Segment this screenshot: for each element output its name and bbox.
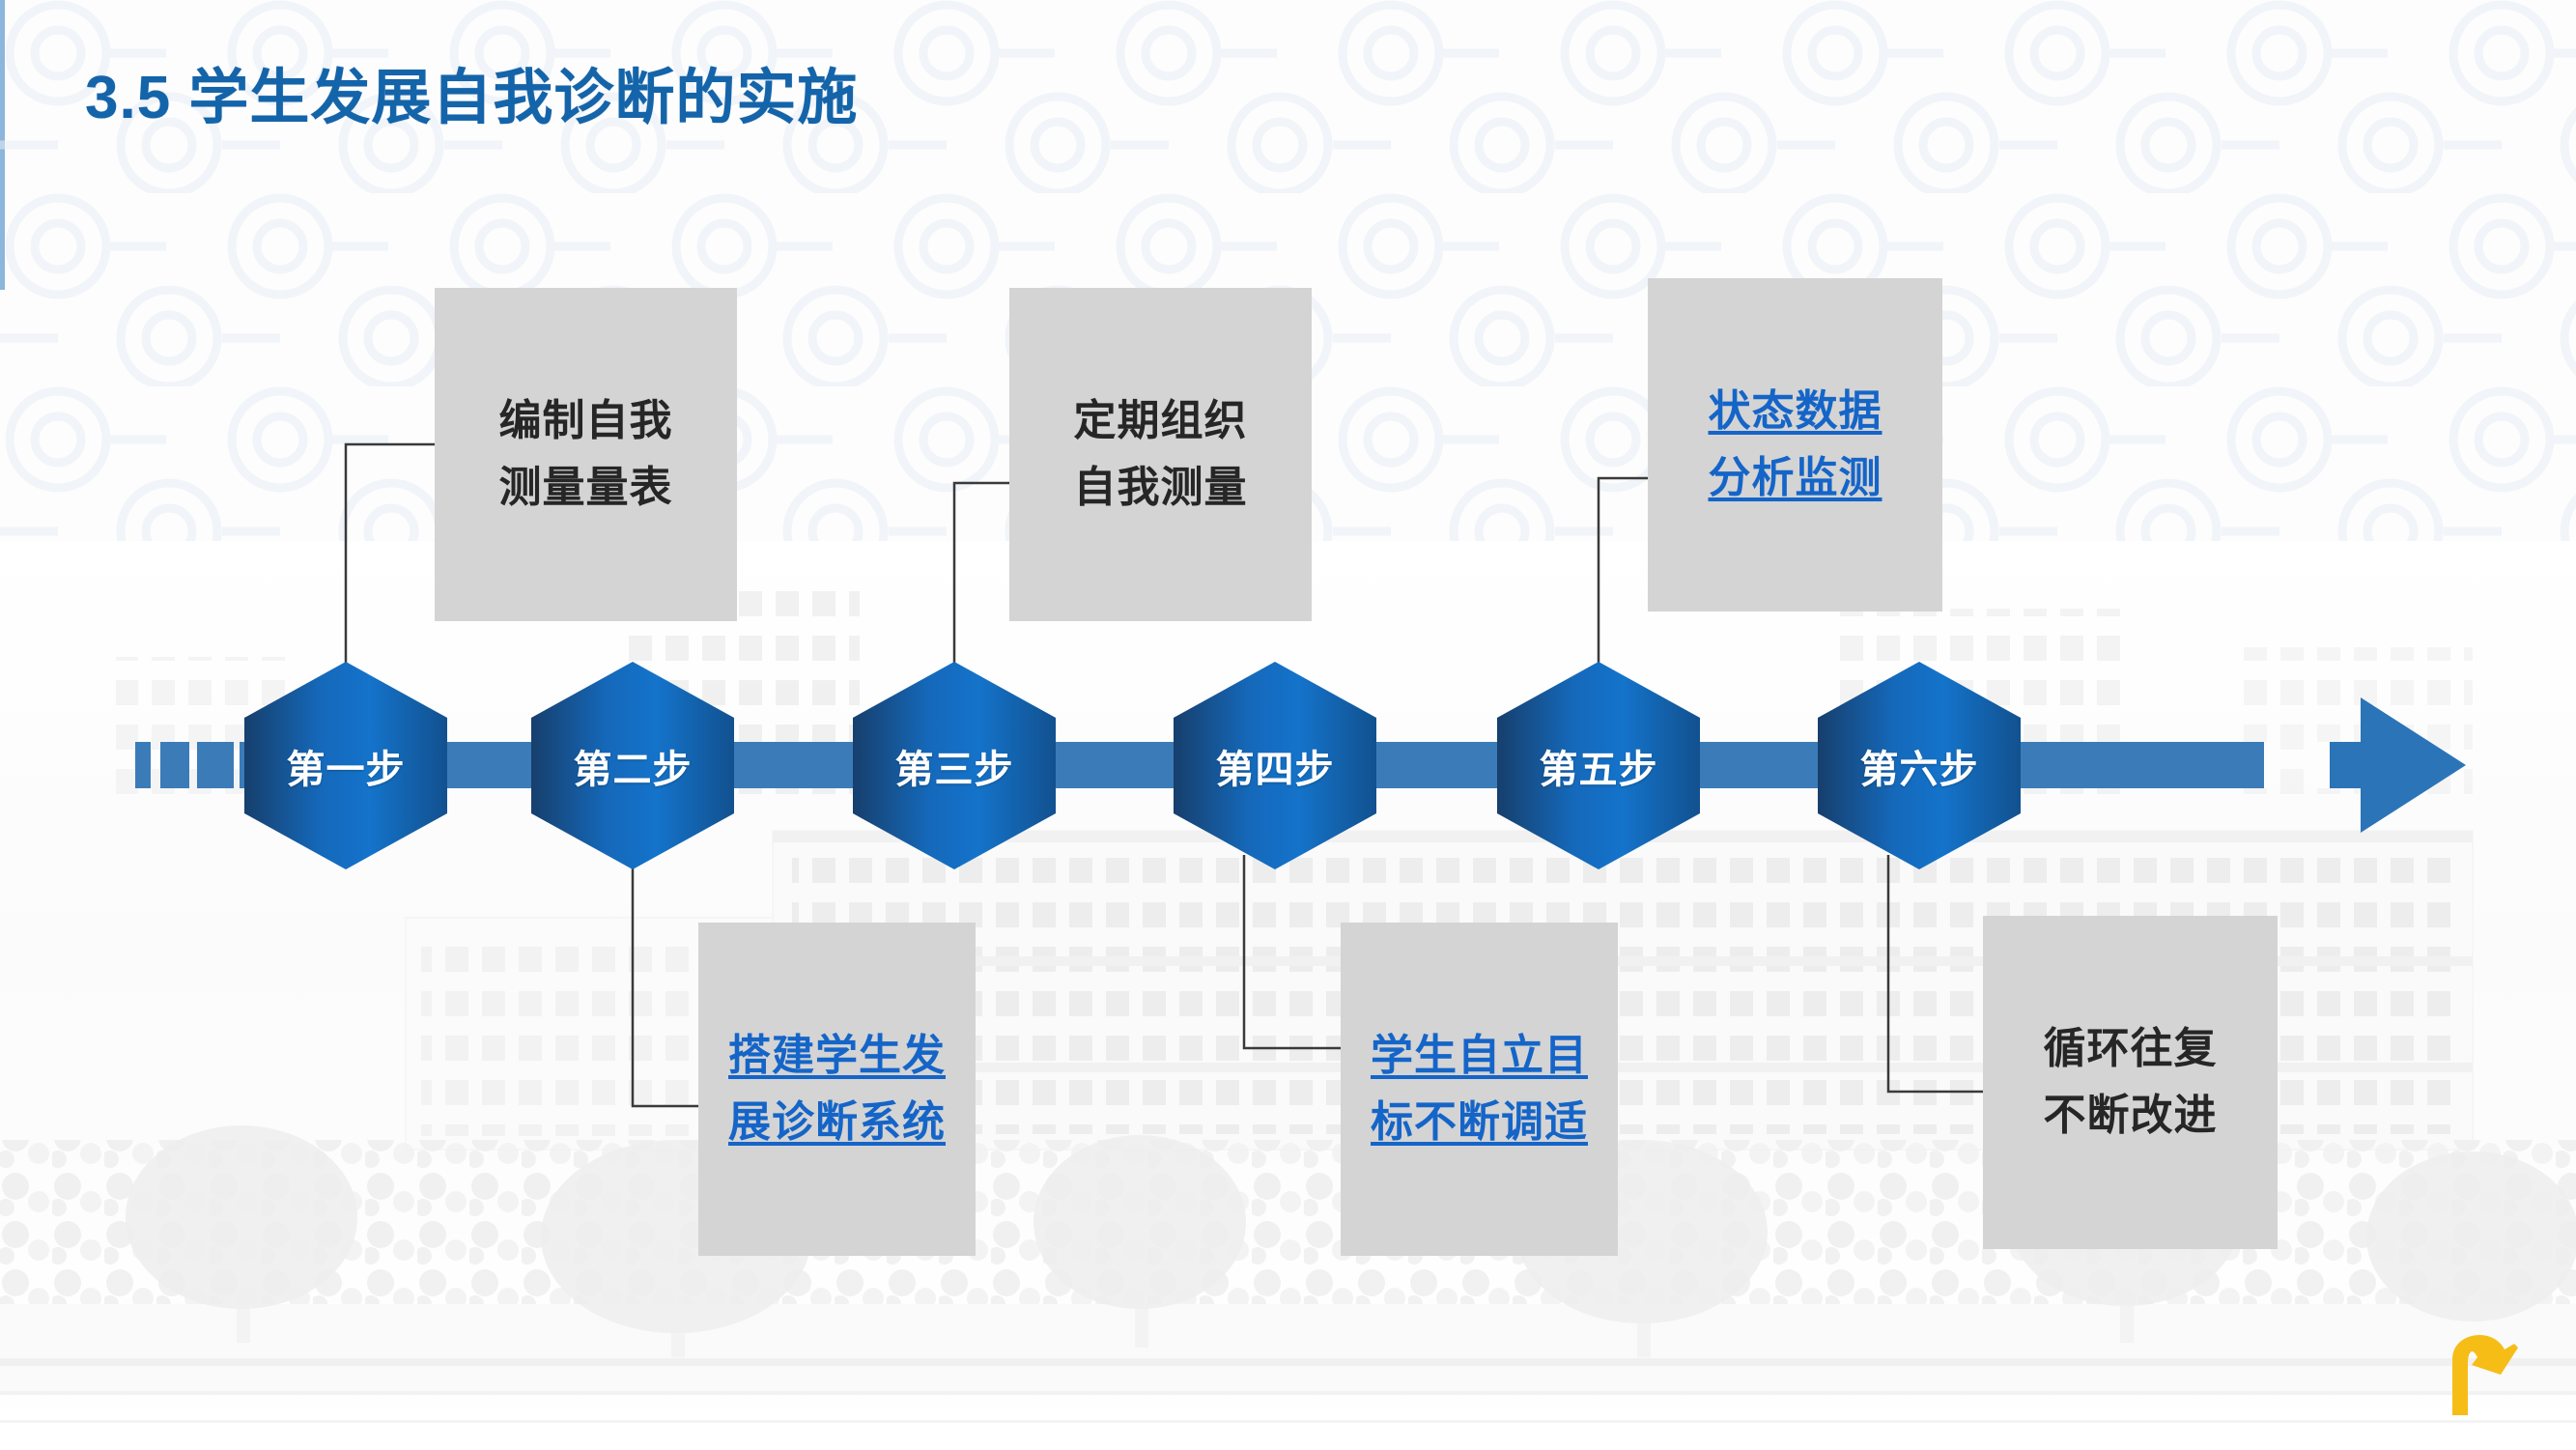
callout-step-1: 编制自我 测量量表 [435,288,737,621]
callout-step-2-line-1[interactable]: 搭建学生发 [728,1023,946,1089]
hexagon-step-4[interactable]: 第四步 [1174,662,1376,869]
hexagon-step-6[interactable]: 第六步 [1818,662,2021,869]
callout-step-3-line-1: 定期组织 [1074,388,1248,454]
hexagon-step-2[interactable]: 第二步 [531,662,734,869]
hexagon-step-5[interactable]: 第五步 [1497,662,1700,869]
hexagon-step-2-label: 第二步 [531,662,734,869]
slide-canvas: 3.5 学生发展自我诊断的实施 [0,0,2576,1450]
callout-step-2-line-2[interactable]: 展诊断系统 [728,1090,946,1155]
hexagon-step-3[interactable]: 第三步 [853,662,1056,869]
callout-step-1-line-2: 测量量表 [499,455,673,521]
callout-step-6-line-1: 循环往复 [2044,1016,2218,1082]
callout-step-5-line-1[interactable]: 状态数据 [1709,379,1882,444]
hexagon-step-3-label: 第三步 [853,662,1056,869]
callout-step-3-line-2: 自我测量 [1074,455,1248,521]
callout-step-4-line-2[interactable]: 标不断调适 [1371,1090,1588,1155]
gold-curved-arrow-logo [2429,1315,2545,1421]
hexagon-step-4-label: 第四步 [1174,662,1376,869]
callout-step-4[interactable]: 学生自立目 标不断调适 [1341,923,1618,1256]
callout-step-3: 定期组织 自我测量 [1009,288,1312,621]
callout-step-4-line-1[interactable]: 学生自立目 [1371,1023,1588,1089]
callout-step-2[interactable]: 搭建学生发 展诊断系统 [698,923,976,1256]
callout-step-1-line-1: 编制自我 [499,388,673,454]
callout-step-6: 循环往复 不断改进 [1983,916,2278,1249]
hexagon-step-1-label: 第一步 [244,662,447,869]
callout-step-5-line-2[interactable]: 分析监测 [1709,445,1882,511]
hexagon-step-1[interactable]: 第一步 [244,662,447,869]
callout-step-5[interactable]: 状态数据 分析监测 [1648,278,1942,611]
hexagon-step-5-label: 第五步 [1497,662,1700,869]
hexagon-step-6-label: 第六步 [1818,662,2021,869]
callout-step-6-line-2: 不断改进 [2044,1083,2218,1149]
